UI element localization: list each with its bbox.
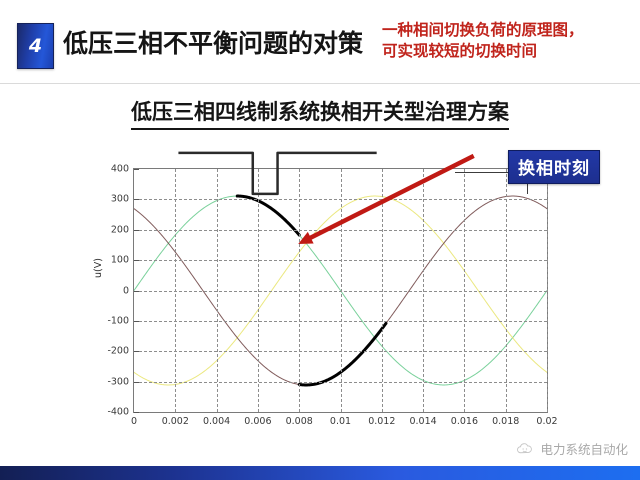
x-axis-tick-label: 0.018: [492, 416, 519, 427]
slide-header: 4 低压三相不平衡问题的对策 一种相间切换负荷的原理图， 可实现较短的切换时间: [0, 0, 640, 84]
y-axis-tick-mark: [134, 412, 139, 413]
x-axis-tick-label: 0.02: [536, 416, 557, 427]
y-axis-tick-mark: [134, 321, 139, 322]
header-divider: [0, 83, 640, 84]
y-axis-tick-mark: [134, 199, 139, 200]
y-gridline: [134, 351, 547, 352]
y-axis-tick-label: -200: [107, 346, 129, 357]
y-gridline: [134, 199, 547, 200]
x-axis-tick-label: 0: [131, 416, 137, 427]
x-axis-tick-label: 0.008: [286, 416, 313, 427]
header-note: 一种相间切换负荷的原理图， 可实现较短的切换时间: [382, 20, 632, 62]
header-note-line2: 可实现较短的切换时间: [382, 41, 632, 62]
y-gridline: [134, 291, 547, 292]
y-axis-tick-label: -100: [107, 315, 129, 326]
chart-container: u(V) 00.0020.0040.0060.0080.010.0120.014…: [95, 150, 565, 435]
x-axis-tick-label: 0.016: [451, 416, 478, 427]
cloud-smiley-icon: [516, 442, 534, 456]
x-axis-tick-label: 0.006: [244, 416, 271, 427]
page-title: 低压三相不平衡问题的对策: [63, 24, 363, 60]
x-axis-tick-label: 0.012: [368, 416, 395, 427]
y-gridline: [134, 321, 547, 322]
section-number-badge: 4: [17, 23, 54, 69]
bottom-accent-bar: [0, 466, 640, 480]
x-axis-tick-label: 0.014: [409, 416, 436, 427]
y-axis-tick-mark: [134, 230, 139, 231]
y-gridline: [134, 260, 547, 261]
y-axis-tick-mark: [134, 169, 139, 170]
y-axis-tick-label: 100: [111, 255, 129, 266]
slide-root: 4 低压三相不平衡问题的对策 一种相间切换负荷的原理图， 可实现较短的切换时间 …: [0, 0, 640, 480]
subtitle-text: 低压三相四线制系统换相开关型治理方案: [131, 96, 509, 130]
y-axis-tick-label: 200: [111, 224, 129, 235]
plot-area: 00.0020.0040.0060.0080.010.0120.0140.016…: [133, 168, 548, 413]
y-axis-tick-mark: [134, 382, 139, 383]
y-axis-tick-mark: [134, 291, 139, 292]
y-axis-tick-label: -300: [107, 376, 129, 387]
watermark: 电力系统自动化: [516, 439, 628, 458]
callout-leader-horizontal: [455, 172, 509, 173]
callout-switch-moment: 换相时刻: [508, 150, 600, 184]
y-axis-tick-label: 400: [111, 164, 129, 175]
y-axis-tick-mark: [134, 351, 139, 352]
y-gridline: [134, 382, 547, 383]
y-axis-tick-label: 0: [123, 285, 129, 296]
watermark-text: 电力系统自动化: [540, 439, 628, 458]
y-axis-tick-mark: [134, 260, 139, 261]
x-axis-tick-label: 0.01: [330, 416, 351, 427]
y-axis-tick-label: -400: [107, 407, 129, 418]
header-note-line1: 一种相间切换负荷的原理图，: [382, 21, 584, 39]
x-axis-tick-label: 0.004: [203, 416, 230, 427]
y-axis-label: u(V): [93, 258, 104, 278]
x-gridline: [547, 169, 548, 412]
waveform-switched-segment-2: [299, 323, 386, 385]
y-axis-tick-label: 300: [111, 194, 129, 205]
y-gridline: [134, 230, 547, 231]
subtitle: 低压三相四线制系统换相开关型治理方案: [0, 96, 640, 130]
x-axis-tick-label: 0.002: [162, 416, 189, 427]
